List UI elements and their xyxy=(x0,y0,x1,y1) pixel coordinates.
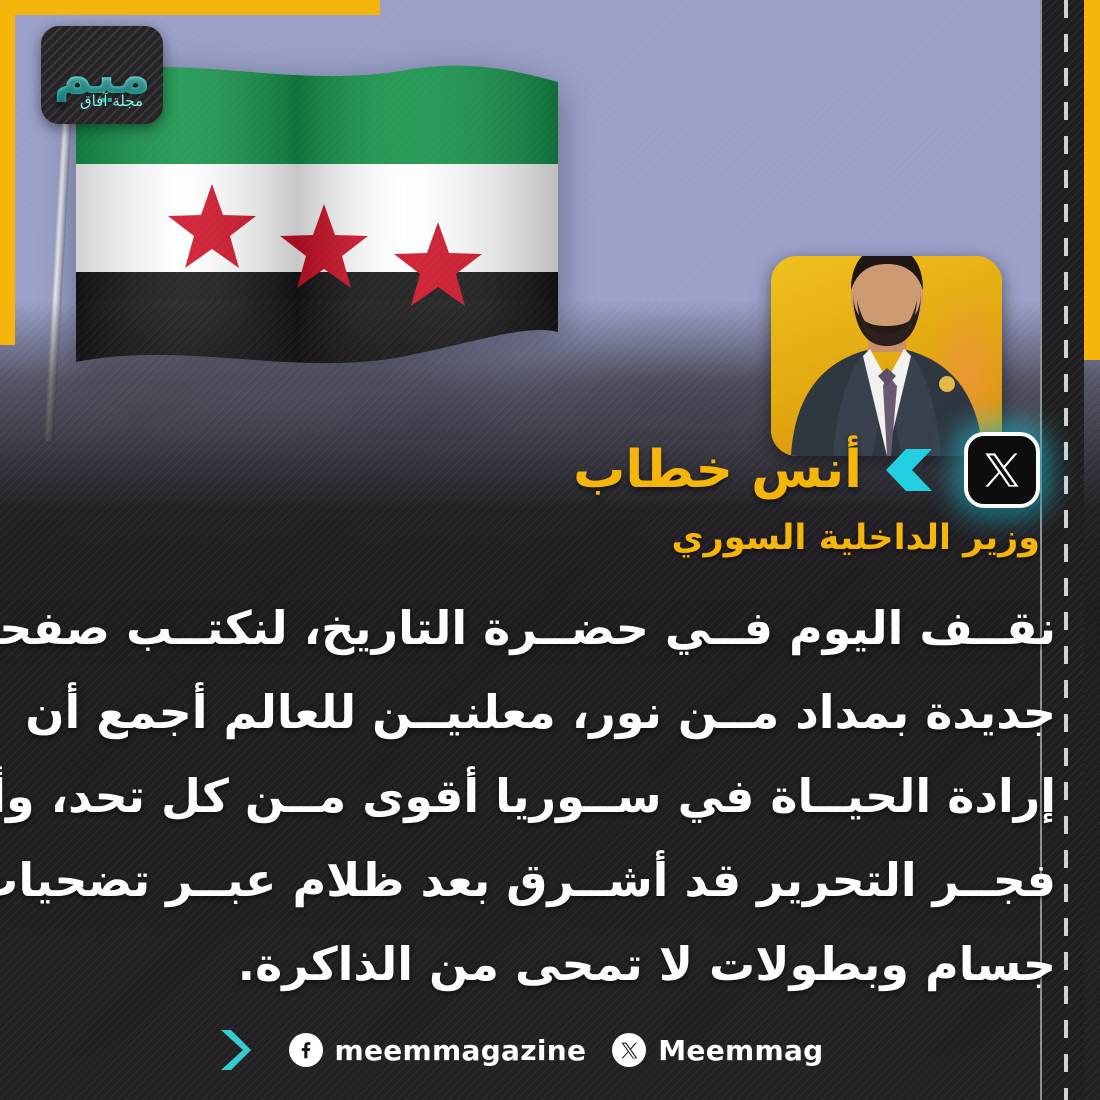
avatar xyxy=(771,256,1002,456)
x-logo-icon[interactable] xyxy=(964,432,1040,508)
avatar-portrait xyxy=(771,256,1002,456)
gold-frame-right xyxy=(1084,0,1100,360)
chevron-right-icon xyxy=(217,1028,253,1072)
headline: أنس خطاب xyxy=(573,432,1040,508)
facebook-account[interactable]: meemmagazine xyxy=(289,1033,587,1067)
social-quote-card: ميم مجلة آفاق xyxy=(0,0,1100,1100)
x-handle: Meemmag xyxy=(658,1034,823,1067)
speaker-name: أنس خطاب xyxy=(573,444,862,496)
quote-line: إرادة الحيــاة في ســوريا أقوى مــن كل ت… xyxy=(44,754,1056,838)
facebook-handle: meemmagazine xyxy=(335,1034,587,1067)
quote-line: جسام وبطولات لا تمحى من الذاكرة. xyxy=(44,922,1056,1006)
logo-tagline: مجلة آفاق xyxy=(80,92,143,110)
x-logo-icon xyxy=(612,1033,646,1067)
speaker-role: وزير الداخلية السوري xyxy=(672,518,1041,558)
gold-frame-left xyxy=(0,0,15,345)
social-footer: meemmagazine Meemmag xyxy=(0,1018,1040,1082)
x-account[interactable]: Meemmag xyxy=(612,1033,823,1067)
quote-text: نقــف اليوم فــي حضــرة التاريخ، لنكتــب… xyxy=(44,586,1056,1006)
quote-line: نقــف اليوم فــي حضــرة التاريخ، لنكتــب… xyxy=(44,586,1056,670)
facebook-icon xyxy=(289,1033,323,1067)
meem-logo-badge[interactable]: ميم مجلة آفاق xyxy=(41,26,163,124)
quote-line: فجــر التحرير قد أشــرق بعد ظلام عبــر ت… xyxy=(44,838,1056,922)
double-chevron-left-icon xyxy=(876,447,950,493)
gold-frame-top xyxy=(0,0,380,15)
right-rail-dashed-line xyxy=(1064,0,1068,1100)
quote-line: جديدة بمداد مــن نور، معلنيــن للعالم أج… xyxy=(44,670,1056,754)
